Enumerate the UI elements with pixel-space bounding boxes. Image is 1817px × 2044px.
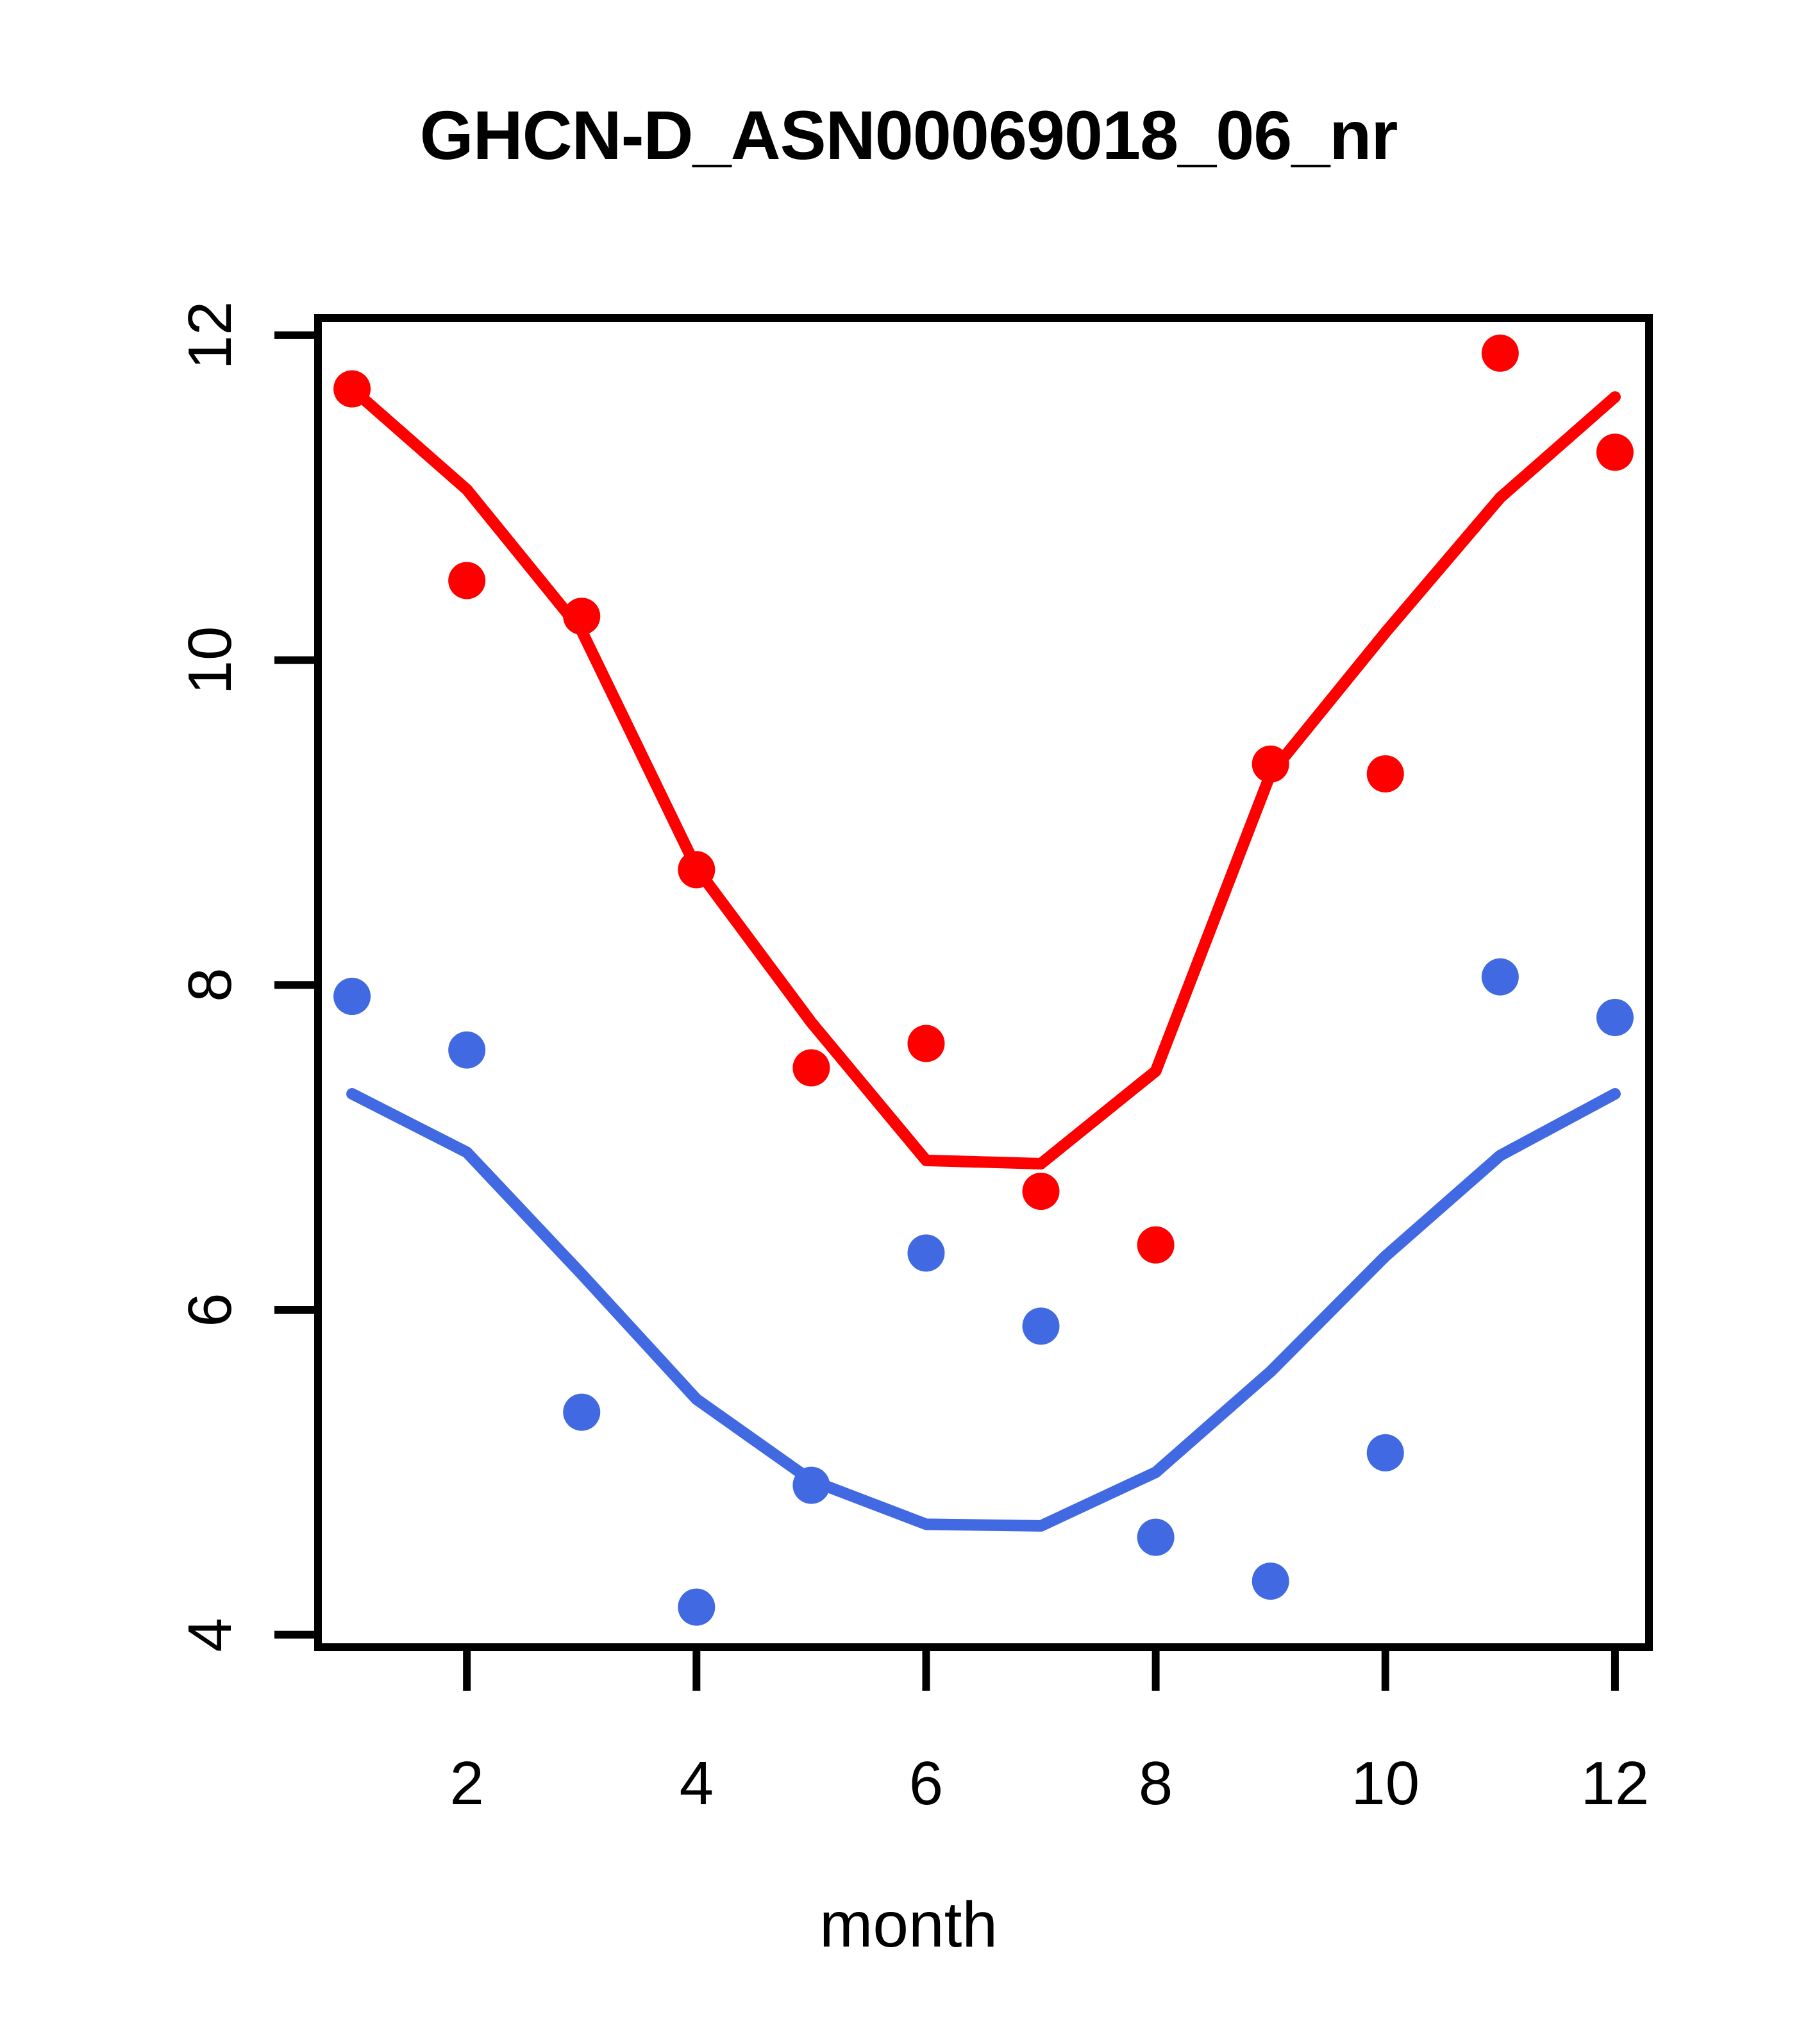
y-tick-label: 10 xyxy=(175,596,246,725)
y-axis-ticks xyxy=(274,335,314,1635)
chart-figure: GHCN-D_ASN00069018_06_nr 4681012 2468101… xyxy=(0,0,1817,2044)
x-axis-label: month xyxy=(0,1888,1817,1962)
x-axis-ticks xyxy=(467,1651,1615,1691)
y-tick-label: 4 xyxy=(175,1571,246,1699)
series-lines xyxy=(352,389,1615,1526)
x-tick-label: 12 xyxy=(1538,1748,1692,1819)
x-tick-label: 10 xyxy=(1309,1748,1462,1819)
plot-canvas xyxy=(314,314,1653,1651)
y-tick-label: 12 xyxy=(175,271,246,399)
y-tick-label: 8 xyxy=(175,921,246,1049)
x-tick-label: 2 xyxy=(390,1748,544,1819)
x-tick-label: 8 xyxy=(1079,1748,1233,1819)
series-points xyxy=(333,335,1634,1626)
y-tick-label: 6 xyxy=(175,1246,246,1374)
x-tick-label: 4 xyxy=(619,1748,773,1819)
x-tick-label: 6 xyxy=(849,1748,1003,1819)
axis-frame xyxy=(318,318,1649,1647)
plot-area xyxy=(314,314,1653,1651)
page-title: GHCN-D_ASN00069018_06_nr xyxy=(0,95,1817,175)
